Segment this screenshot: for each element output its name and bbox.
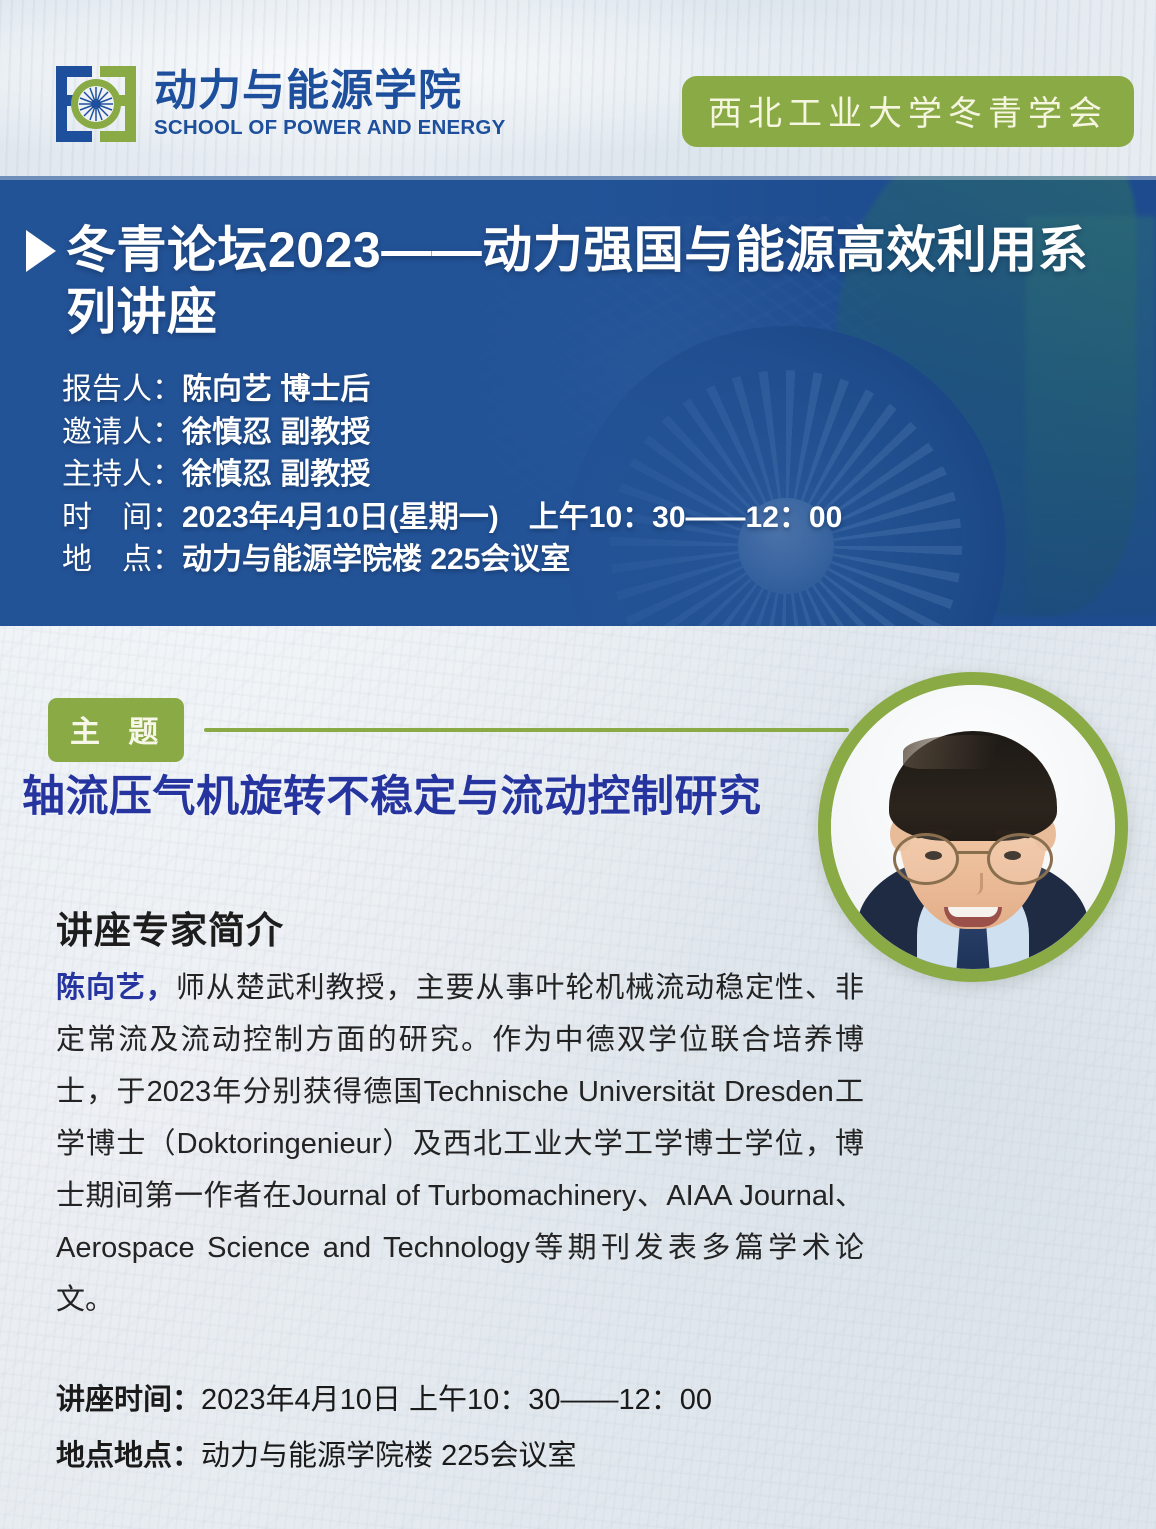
- meta-label-host: 主持人：: [62, 458, 182, 491]
- association-badge: 西北工业大学冬青学会: [682, 76, 1134, 147]
- meta-row-host: 主持人：徐慎忍 副教授: [62, 454, 1116, 497]
- topic-divider-line: [204, 728, 849, 732]
- meta-value-location: 动力与能源学院楼 225会议室: [182, 543, 570, 576]
- logo-school-name-cn: 动力与能源学院: [154, 70, 505, 113]
- poster-header: 动力与能源学院 SCHOOL OF POWER AND ENERGY 西北工业大…: [0, 0, 1156, 176]
- portrait-nose: [966, 873, 983, 895]
- portrait-glasses-bridge: [955, 851, 991, 854]
- footer-value-time: 2023年4月10日 上午10：30——12：00: [201, 1384, 712, 1416]
- footer-row-time: 讲座时间：2023年4月10日 上午10：30——12：00: [56, 1372, 956, 1428]
- speaker-portrait: [818, 672, 1128, 982]
- banner-title-row: 冬青论坛2023——动力强国与能源高效利用系列讲座: [26, 220, 1116, 343]
- poster-root: 动力与能源学院 SCHOOL OF POWER AND ENERGY 西北工业大…: [0, 0, 1156, 1529]
- meta-label-speaker: 报告人：: [62, 373, 182, 406]
- bio-paragraph: 陈向艺，师从楚武利教授，主要从事叶轮机械流动稳定性、非定常流及流动控制方面的研究…: [56, 962, 864, 1326]
- meta-value-time: 2023年4月10日(星期一) 上午10：30——12：00: [182, 501, 842, 534]
- meta-label-time: 时 间：: [62, 501, 182, 534]
- turbine-bracket-logo-icon: [52, 62, 140, 146]
- bio-text: 师从楚武利教授，主要从事叶轮机械流动稳定性、非定常流及流动控制方面的研究。作为中…: [56, 972, 864, 1316]
- school-logo: 动力与能源学院 SCHOOL OF POWER AND ENERGY: [52, 62, 505, 146]
- footer-info: 讲座时间：2023年4月10日 上午10：30——12：00 地点地点：动力与能…: [56, 1372, 956, 1484]
- banner-title: 冬青论坛2023——动力强国与能源高效利用系列讲座: [66, 220, 1096, 343]
- meta-row-location: 地 点：动力与能源学院楼 225会议室: [62, 539, 1116, 582]
- meta-row-inviter: 邀请人：徐慎忍 副教授: [62, 412, 1116, 455]
- meta-row-speaker: 报告人：陈向艺 博士后: [62, 369, 1116, 412]
- topic-chip: 主 题: [48, 698, 184, 762]
- topic-title: 轴流压气机旋转不稳定与流动控制研究: [22, 762, 852, 824]
- meta-row-time: 时 间：2023年4月10日(星期一) 上午10：30——12：00: [62, 497, 1116, 540]
- footer-label-time: 讲座时间：: [56, 1384, 201, 1416]
- logo-school-name-en: SCHOOL OF POWER AND ENERGY: [154, 118, 505, 139]
- footer-row-location: 地点地点：动力与能源学院楼 225会议室: [56, 1428, 956, 1484]
- portrait-hair: [889, 731, 1057, 841]
- portrait-lens-left: [893, 833, 959, 885]
- meta-label-location: 地 点：: [62, 543, 182, 576]
- meta-value-inviter: 徐慎忍 副教授: [182, 416, 370, 449]
- bio-speaker-name: 陈向艺，: [56, 972, 176, 1004]
- portrait-photo: [831, 685, 1115, 969]
- event-banner: 冬青论坛2023——动力强国与能源高效利用系列讲座 报告人：陈向艺 博士后 邀请…: [0, 176, 1156, 626]
- meta-label-inviter: 邀请人：: [62, 416, 182, 449]
- footer-value-location: 动力与能源学院楼 225会议室: [201, 1440, 576, 1472]
- banner-meta-list: 报告人：陈向艺 博士后 邀请人：徐慎忍 副教授 主持人：徐慎忍 副教授 时 间：…: [62, 369, 1116, 582]
- meta-value-host: 徐慎忍 副教授: [182, 458, 370, 491]
- portrait-lens-right: [987, 833, 1053, 885]
- meta-value-speaker: 陈向艺 博士后: [182, 373, 370, 406]
- footer-label-location: 地点地点：: [56, 1440, 201, 1472]
- bio-heading: 讲座专家简介: [56, 900, 284, 954]
- triangle-right-icon: [26, 230, 56, 272]
- portrait-teeth: [948, 907, 998, 917]
